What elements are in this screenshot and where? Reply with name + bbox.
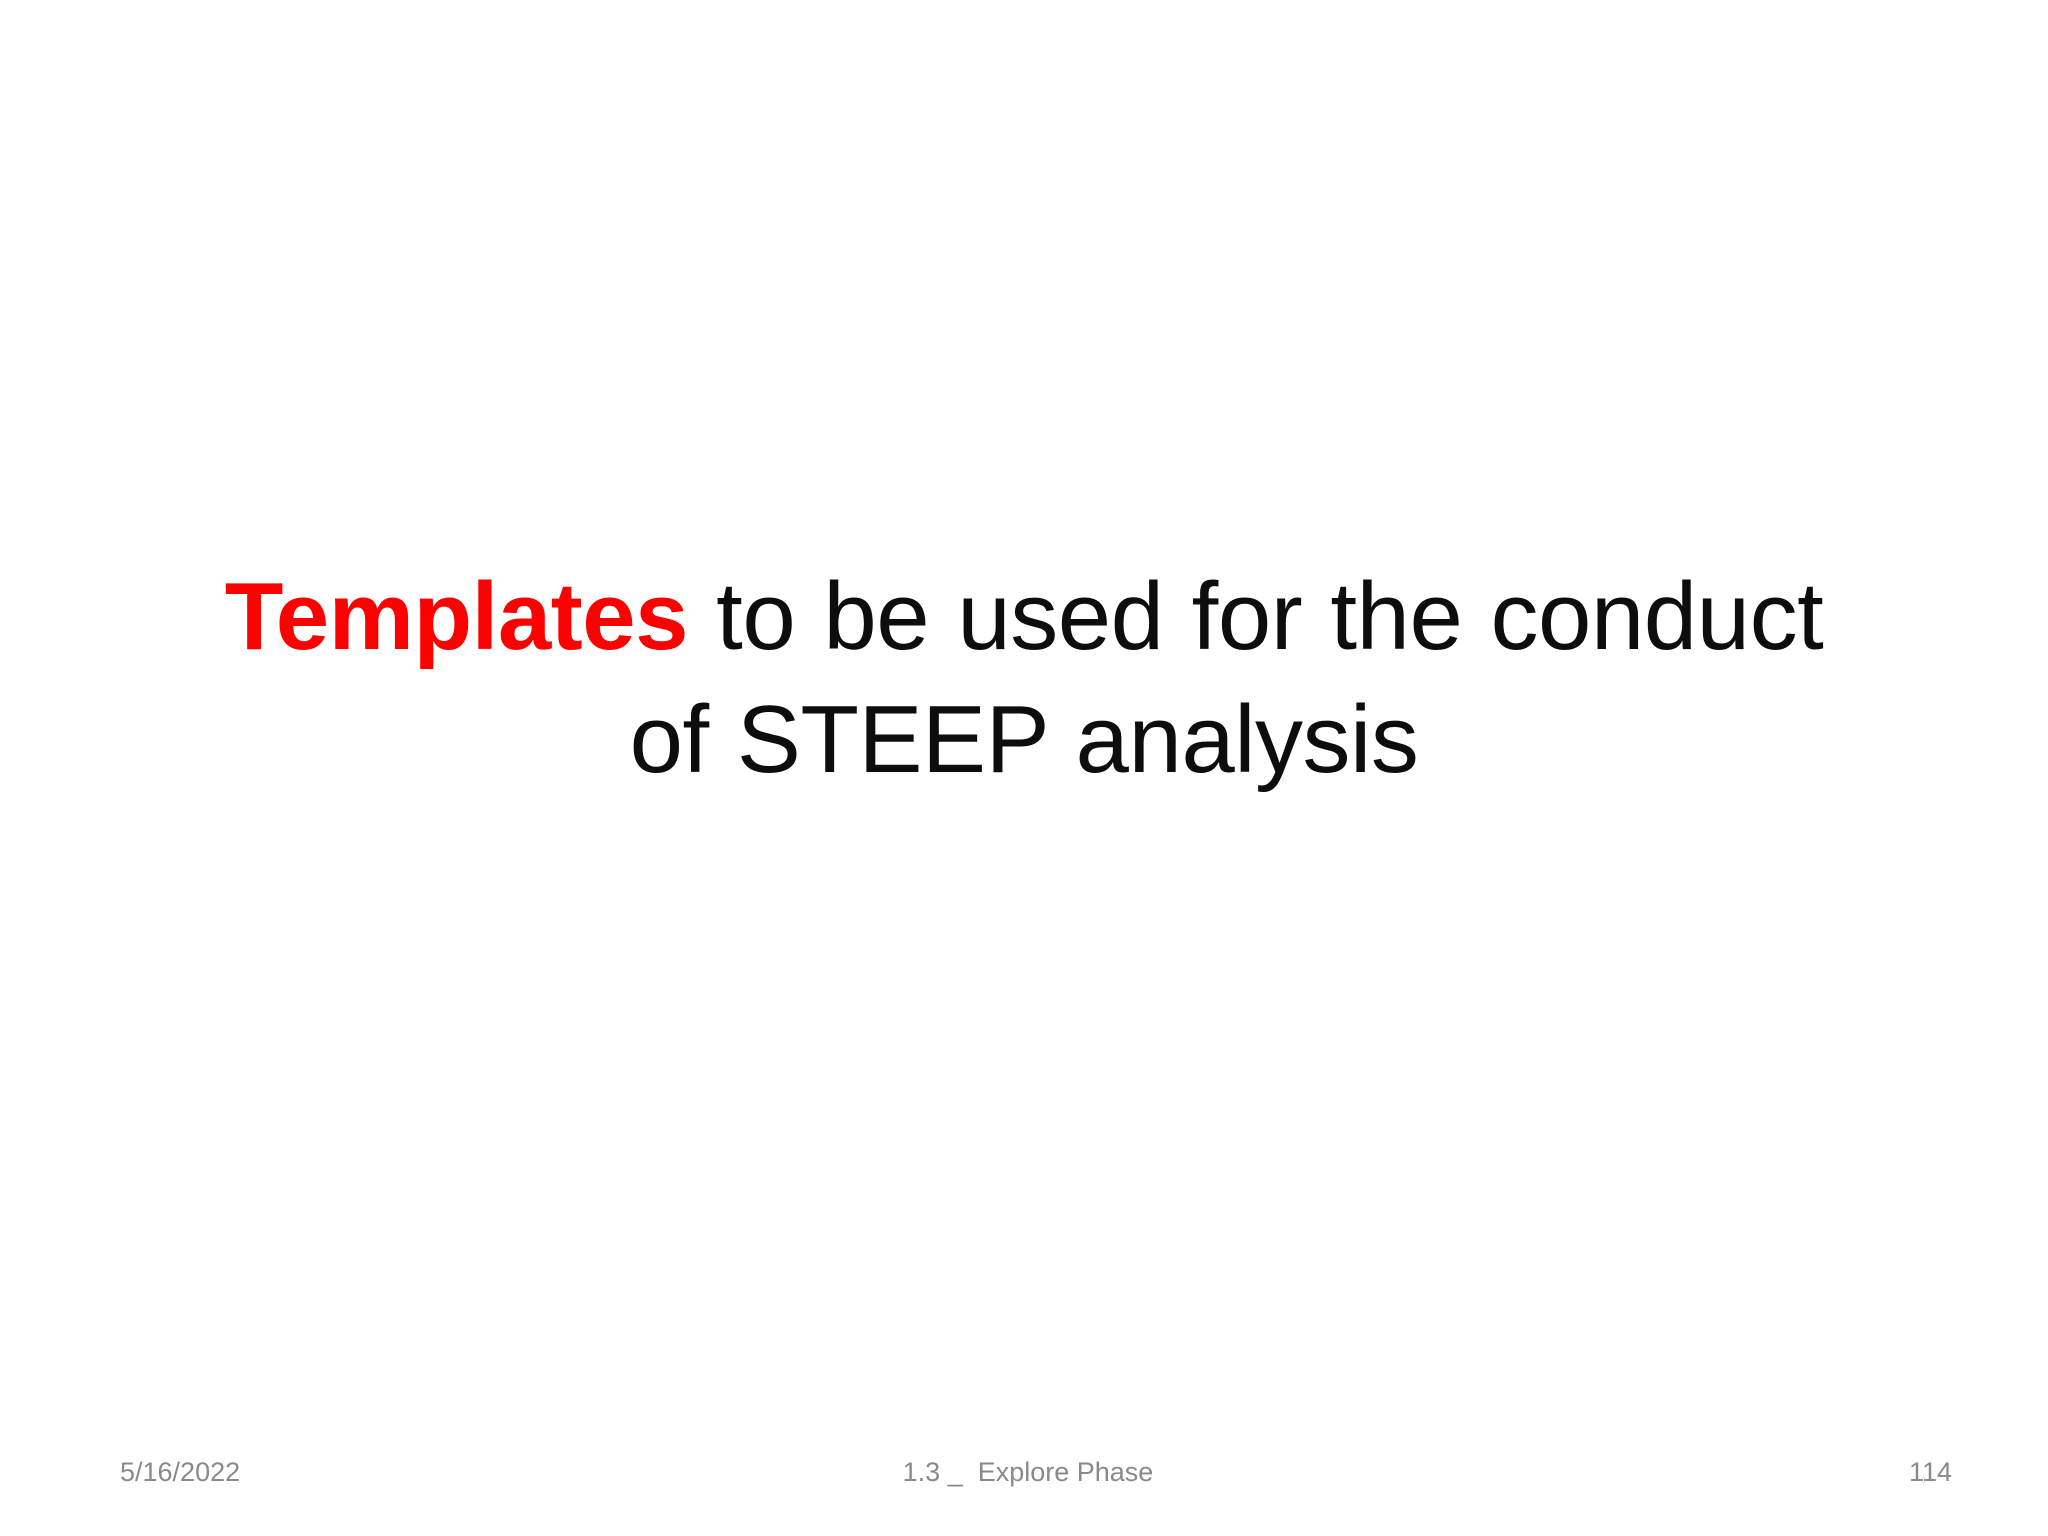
- title-emphasis-word: Templates: [225, 563, 688, 670]
- slide-canvas: Templates to be used for the conduct of …: [0, 0, 2048, 1536]
- slide-footer: 5/16/2022 1.3 _ Explore Phase 114: [0, 1441, 2048, 1501]
- title-line-1: Templates to be used for the conduct: [124, 556, 1924, 679]
- footer-page-number: 114: [1909, 1455, 1952, 1489]
- title-line-2: of STEEP analysis: [124, 679, 1924, 802]
- slide-title: Templates to be used for the conduct of …: [124, 556, 1924, 802]
- footer-section-label: 1.3 _ Explore Phase: [4, 1455, 2048, 1489]
- title-line-1-rest: to be used for the conduct: [688, 563, 1823, 670]
